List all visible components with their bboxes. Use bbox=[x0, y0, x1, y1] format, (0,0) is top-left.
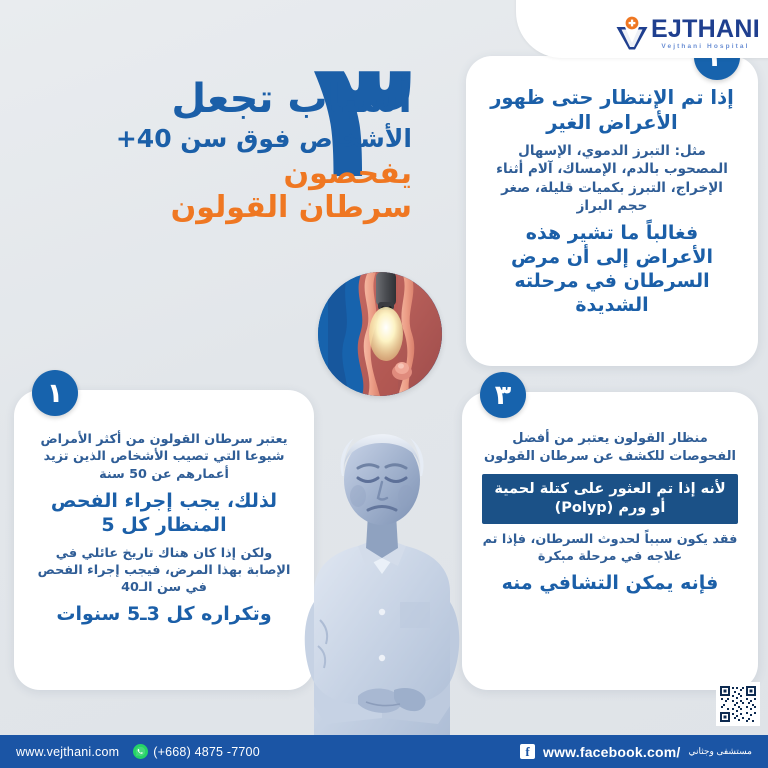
card-1-body-1: يعتبر سرطان القولون من أكثر الأمراض شيوع… bbox=[36, 431, 292, 483]
logo-v-mark-icon bbox=[615, 16, 649, 50]
footer-facebook-arabic[interactable]: مستشفى وجثاني bbox=[688, 746, 752, 757]
title-line-3: يفحصون bbox=[0, 157, 412, 191]
footer-phone-group[interactable]: (+668) 4875 -7700 bbox=[133, 744, 260, 759]
card-1-emphasis-1: لذلك، يجب إجراء الفحص المنظار كل 5 bbox=[36, 490, 292, 538]
card-2-emphasis: فغالباً ما تشير هذه الأعراض إلى أن مرض ا… bbox=[488, 222, 736, 318]
card-2-heading: إذا تم الإنتظار حتى ظهور الأعراض الغير bbox=[488, 86, 736, 135]
qr-code[interactable] bbox=[716, 682, 760, 726]
vejthani-logo: EJTHANI Vejthani Hospital bbox=[615, 16, 760, 50]
reason-card-1[interactable]: ١ يعتبر سرطان القولون من أكثر الأمراض شي… bbox=[14, 390, 314, 690]
card-1-number-badge: ١ bbox=[32, 370, 78, 416]
card-3-number-badge: ٣ bbox=[480, 372, 526, 418]
patient-photo bbox=[296, 406, 468, 736]
infographic-canvas: EJTHANI Vejthani Hospital ٣ أسباب تجعل ا… bbox=[0, 0, 768, 768]
title-line-4: سرطان القولون bbox=[0, 191, 412, 225]
title-line-1: أسباب تجعل bbox=[0, 78, 412, 120]
footer-phone[interactable]: (+668) 4875 -7700 bbox=[153, 745, 260, 759]
colonoscopy-illustration bbox=[318, 272, 442, 396]
card-3-lead: منظار القولون يعتبر من أفضل الفحوصات للك… bbox=[482, 430, 738, 465]
footer-bar: www.vejthani.com (+668) 4875 -7700 f www… bbox=[0, 735, 768, 768]
footer-website[interactable]: www.vejthani.com bbox=[16, 745, 119, 759]
card-1-body-2: ولكن إذا كان هناك تاريخ عائلي في الإصابة… bbox=[36, 545, 292, 597]
card-1-emphasis-2: وتكراره كل 3ـ5 سنوات bbox=[36, 603, 292, 627]
card-3-highlight: لأنه إذا تم العثور على كتلة لحمية أو ورم… bbox=[482, 474, 738, 524]
reason-card-2[interactable]: ٢ إذا تم الإنتظار حتى ظهور الأعراض الغير… bbox=[466, 56, 758, 366]
card-3-body: فقد يكون سبباً لحدوث السرطان، فإذا تم عل… bbox=[482, 531, 738, 566]
footer-facebook-url[interactable]: www.facebook.com/ bbox=[543, 744, 680, 760]
header-banner: EJTHANI Vejthani Hospital bbox=[516, 0, 768, 58]
logo-name: EJTHANI bbox=[651, 17, 760, 42]
facebook-icon: f bbox=[520, 744, 535, 759]
footer-left-group: www.vejthani.com (+668) 4875 -7700 bbox=[16, 744, 260, 759]
page-title: أسباب تجعل الأشخاص فوق سن 40+ يفحصون سرط… bbox=[0, 78, 430, 224]
reason-card-3[interactable]: ٣ منظار القولون يعتبر من أفضل الفحوصات ل… bbox=[462, 392, 758, 690]
title-line-2: الأشخاص فوق سن 40+ bbox=[0, 124, 412, 154]
logo-tagline: Vejthani Hospital bbox=[651, 44, 760, 51]
card-2-body: مثل: التبرز الدموي، الإسهال المصحوب بالد… bbox=[488, 142, 736, 215]
card-3-emphasis: فإنه يمكن التشافي منه bbox=[482, 572, 738, 596]
whatsapp-icon bbox=[133, 744, 148, 759]
footer-right-group[interactable]: f www.facebook.com/ مستشفى وجثاني bbox=[520, 744, 752, 760]
